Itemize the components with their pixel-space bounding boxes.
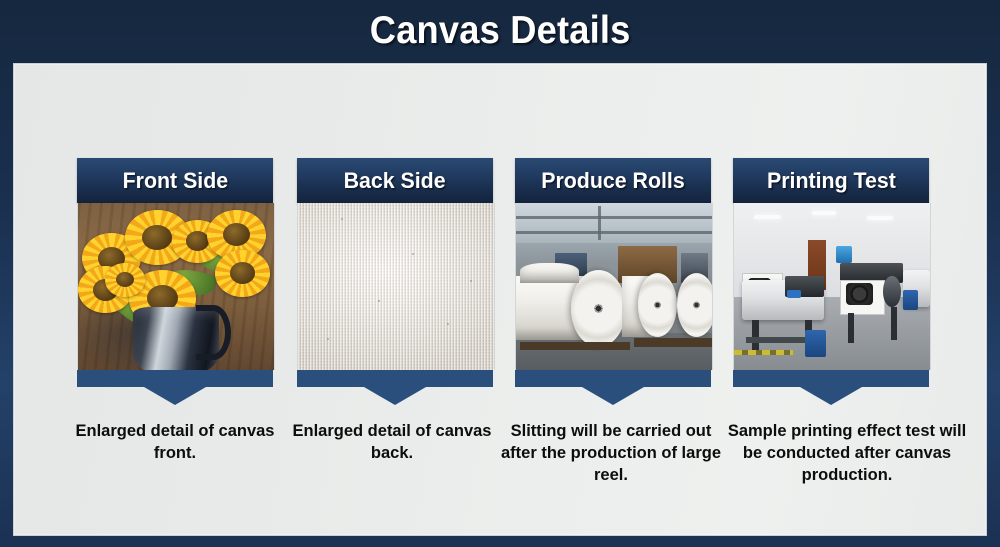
card-image-canvas-texture <box>297 203 495 370</box>
caption-produce-rolls: Slitting will be carried out after the p… <box>491 421 731 487</box>
card-back-side[interactable]: Back Side <box>297 158 493 387</box>
page-title: Canvas Details <box>370 9 631 53</box>
cards-row: Front Side <box>14 64 986 535</box>
card-footer-arrow-front-side <box>77 370 273 387</box>
card-title-label: Front Side <box>122 168 228 194</box>
card-front-side[interactable]: Front Side <box>77 158 273 387</box>
card-produce-rolls[interactable]: Produce Rolls <box>515 158 711 387</box>
card-image-factory-rolls <box>515 203 713 370</box>
card-image-sunflowers <box>77 203 275 370</box>
card-header-printing-test: Printing Test <box>733 158 929 203</box>
card-title-label: Printing Test <box>767 168 896 194</box>
caption-front-side: Enlarged detail of canvas front. <box>59 421 291 465</box>
caption-printing-test: Sample printing effect test will be cond… <box>723 421 971 487</box>
card-image-printing-workshop <box>733 203 931 370</box>
card-footer-arrow-back-side <box>297 370 493 387</box>
title-bar: Canvas Details <box>0 0 1000 62</box>
card-footer-arrow-printing-test <box>733 370 929 387</box>
card-title-label: Produce Rolls <box>541 168 684 194</box>
card-title-label: Back Side <box>344 168 446 194</box>
card-printing-test[interactable]: Printing Test <box>733 158 929 387</box>
card-header-produce-rolls: Produce Rolls <box>515 158 711 203</box>
card-header-back-side: Back Side <box>297 158 493 203</box>
slide-root: Canvas Details Front Side <box>0 0 1000 547</box>
card-footer-arrow-produce-rolls <box>515 370 711 387</box>
caption-back-side: Enlarged detail of canvas back. <box>276 421 508 465</box>
card-header-front-side: Front Side <box>77 158 273 203</box>
content-panel: Front Side <box>13 63 987 536</box>
